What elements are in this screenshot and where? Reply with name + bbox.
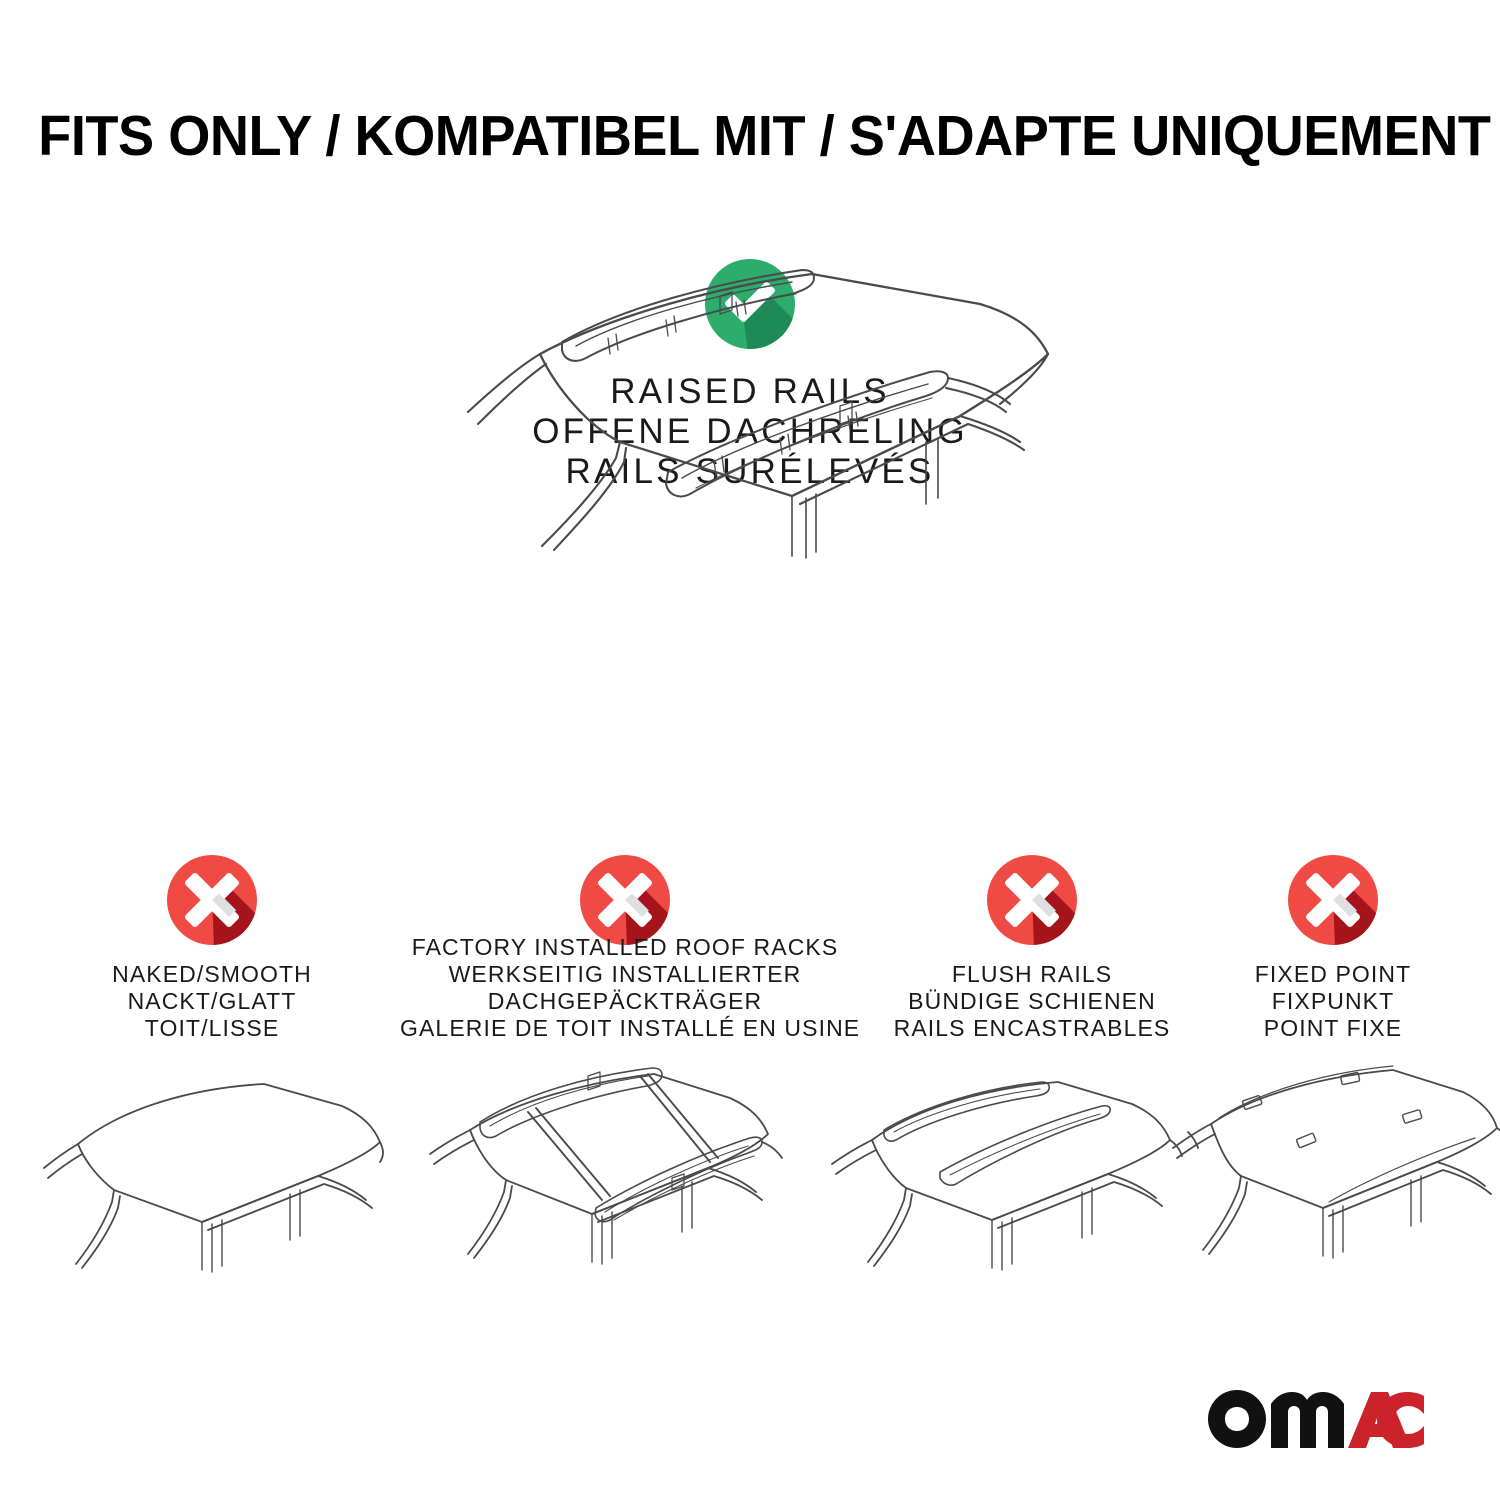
caption-line: WERKSEITIG INSTALLIERTER [400,961,850,988]
caption-holder: FACTORY INSTALLED ROOF RACKS WERKSEITIG … [400,934,850,1042]
incompatible-caption-flush-rails: FLUSH RAILS BÜNDIGE SCHIENEN RAILS ENCAS… [852,961,1212,1042]
page-title-text: FITS ONLY / KOMPATIBEL MIT / S'ADAPTE UN… [38,104,1490,168]
caption-line: FLUSH RAILS [852,961,1212,988]
car-roof-raised-rails-drawing [420,246,1080,566]
car-roof-naked-smooth-illustration [42,1062,402,1302]
car-roof-factory-racks-illustration [410,1062,790,1302]
car-roof-flush-rails-illustration [820,1062,1200,1302]
caption-line: FIXPUNKT [1188,988,1478,1015]
caption-line: DACHGEPÄCKTRÄGER [400,988,850,1015]
cross-icon-wrap [1188,852,1478,948]
omac-logo-mark [1208,1390,1424,1448]
car-roof-fixed-point-illustration [1165,1062,1500,1302]
cross-circle-icon [984,852,1080,948]
caption-line: POINT FIXE [1188,1015,1478,1042]
incompatible-option-naked-smooth: NAKED/SMOOTH NACKT/GLATT TOIT/LISSE [32,852,392,1042]
cross-icon-wrap [32,852,392,948]
caption-line: FIXED POINT [1188,961,1478,988]
caption-holder: FIXED POINT FIXPUNKT POINT FIXE [1188,961,1478,1042]
car-roof-factory-racks-drawing [410,1062,790,1307]
caption-line: TOIT/LISSE [32,1015,392,1042]
car-roof-raised-rails-illustration [0,246,1500,566]
incompatible-option-fixed-point: FIXED POINT FIXPUNKT POINT FIXE [1188,852,1478,1042]
caption-line: GALERIE DE TOIT INSTALLÉ EN USINE [400,1015,850,1042]
cross-circle-icon [164,852,260,948]
caption-line: NAKED/SMOOTH [32,961,392,988]
caption-line: RAILS ENCASTRABLES [852,1015,1212,1042]
cross-circle-icon [1285,852,1381,948]
car-roof-fixed-point-drawing [1165,1062,1500,1307]
caption-line: NACKT/GLATT [32,988,392,1015]
incompatible-option-factory-racks: FACTORY INSTALLED ROOF RACKS WERKSEITIG … [400,852,850,1042]
car-roof-flush-rails-drawing [820,1062,1200,1307]
car-roof-naked-smooth-drawing [42,1062,402,1302]
incompatible-option-flush-rails: FLUSH RAILS BÜNDIGE SCHIENEN RAILS ENCAS… [852,852,1212,1042]
caption-holder: FLUSH RAILS BÜNDIGE SCHIENEN RAILS ENCAS… [852,961,1212,1042]
incompatible-caption-factory-racks: FACTORY INSTALLED ROOF RACKS WERKSEITIG … [400,934,850,1042]
caption-line: FACTORY INSTALLED ROOF RACKS [400,934,850,961]
incompatible-caption-fixed-point: FIXED POINT FIXPUNKT POINT FIXE [1188,961,1478,1042]
caption-line: BÜNDIGE SCHIENEN [852,988,1212,1015]
incompatible-caption-naked-smooth: NAKED/SMOOTH NACKT/GLATT TOIT/LISSE [32,961,392,1042]
page-title: FITS ONLY / KOMPATIBEL MIT / S'ADAPTE UN… [0,104,1500,168]
caption-holder: NAKED/SMOOTH NACKT/GLATT TOIT/LISSE [32,961,392,1042]
cross-icon-wrap [852,852,1212,948]
omac-logo [1208,1390,1424,1448]
